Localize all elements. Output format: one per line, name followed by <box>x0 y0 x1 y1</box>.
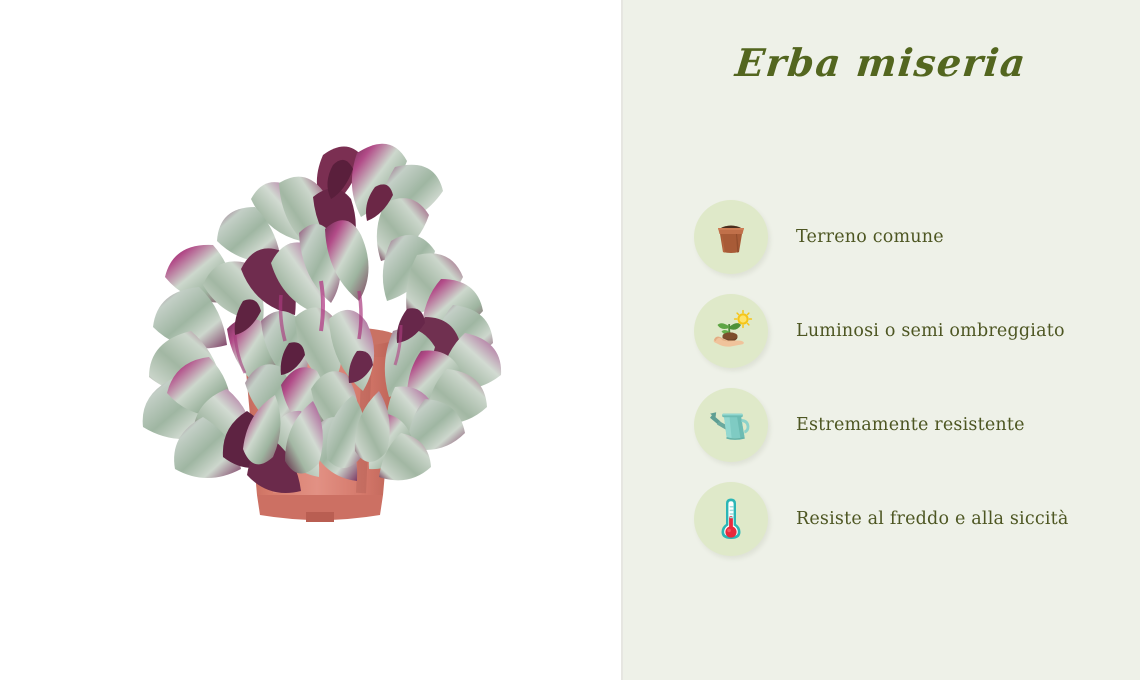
feature-label: Luminosi o semi ombreggiato <box>796 321 1065 341</box>
thermometer-icon <box>716 496 746 542</box>
flower-pot-icon <box>709 215 753 259</box>
panel-divider <box>621 0 623 680</box>
plant-foliage <box>143 144 501 493</box>
feature-icon-badge <box>694 294 768 368</box>
plant-photo <box>0 0 622 680</box>
feature-icon-badge <box>694 388 768 462</box>
feature-list: Terreno comune <box>622 190 1140 566</box>
feature-label: Estremamente resistente <box>796 415 1025 435</box>
product-photo-panel <box>0 0 622 680</box>
plant-product-card: Erba miseria Terreno comune <box>0 0 1140 680</box>
hand-seedling-sun-icon <box>708 308 754 354</box>
feature-icon-badge <box>694 200 768 274</box>
plant-info-panel: Erba miseria Terreno comune <box>622 0 1140 680</box>
feature-label: Resiste al freddo e alla siccità <box>796 509 1069 529</box>
feature-row-temperature: Resiste al freddo e alla siccità <box>622 472 1140 566</box>
feature-row-light: Luminosi o semi ombreggiato <box>622 284 1140 378</box>
feature-row-watering: Estremamente resistente <box>622 378 1140 472</box>
feature-label: Terreno comune <box>796 227 944 247</box>
watering-can-icon <box>707 404 755 446</box>
feature-row-soil: Terreno comune <box>622 190 1140 284</box>
feature-icon-badge <box>694 482 768 556</box>
tradescantia-zebrina-illustration <box>95 95 545 555</box>
page-title: Erba miseria <box>620 44 1140 82</box>
